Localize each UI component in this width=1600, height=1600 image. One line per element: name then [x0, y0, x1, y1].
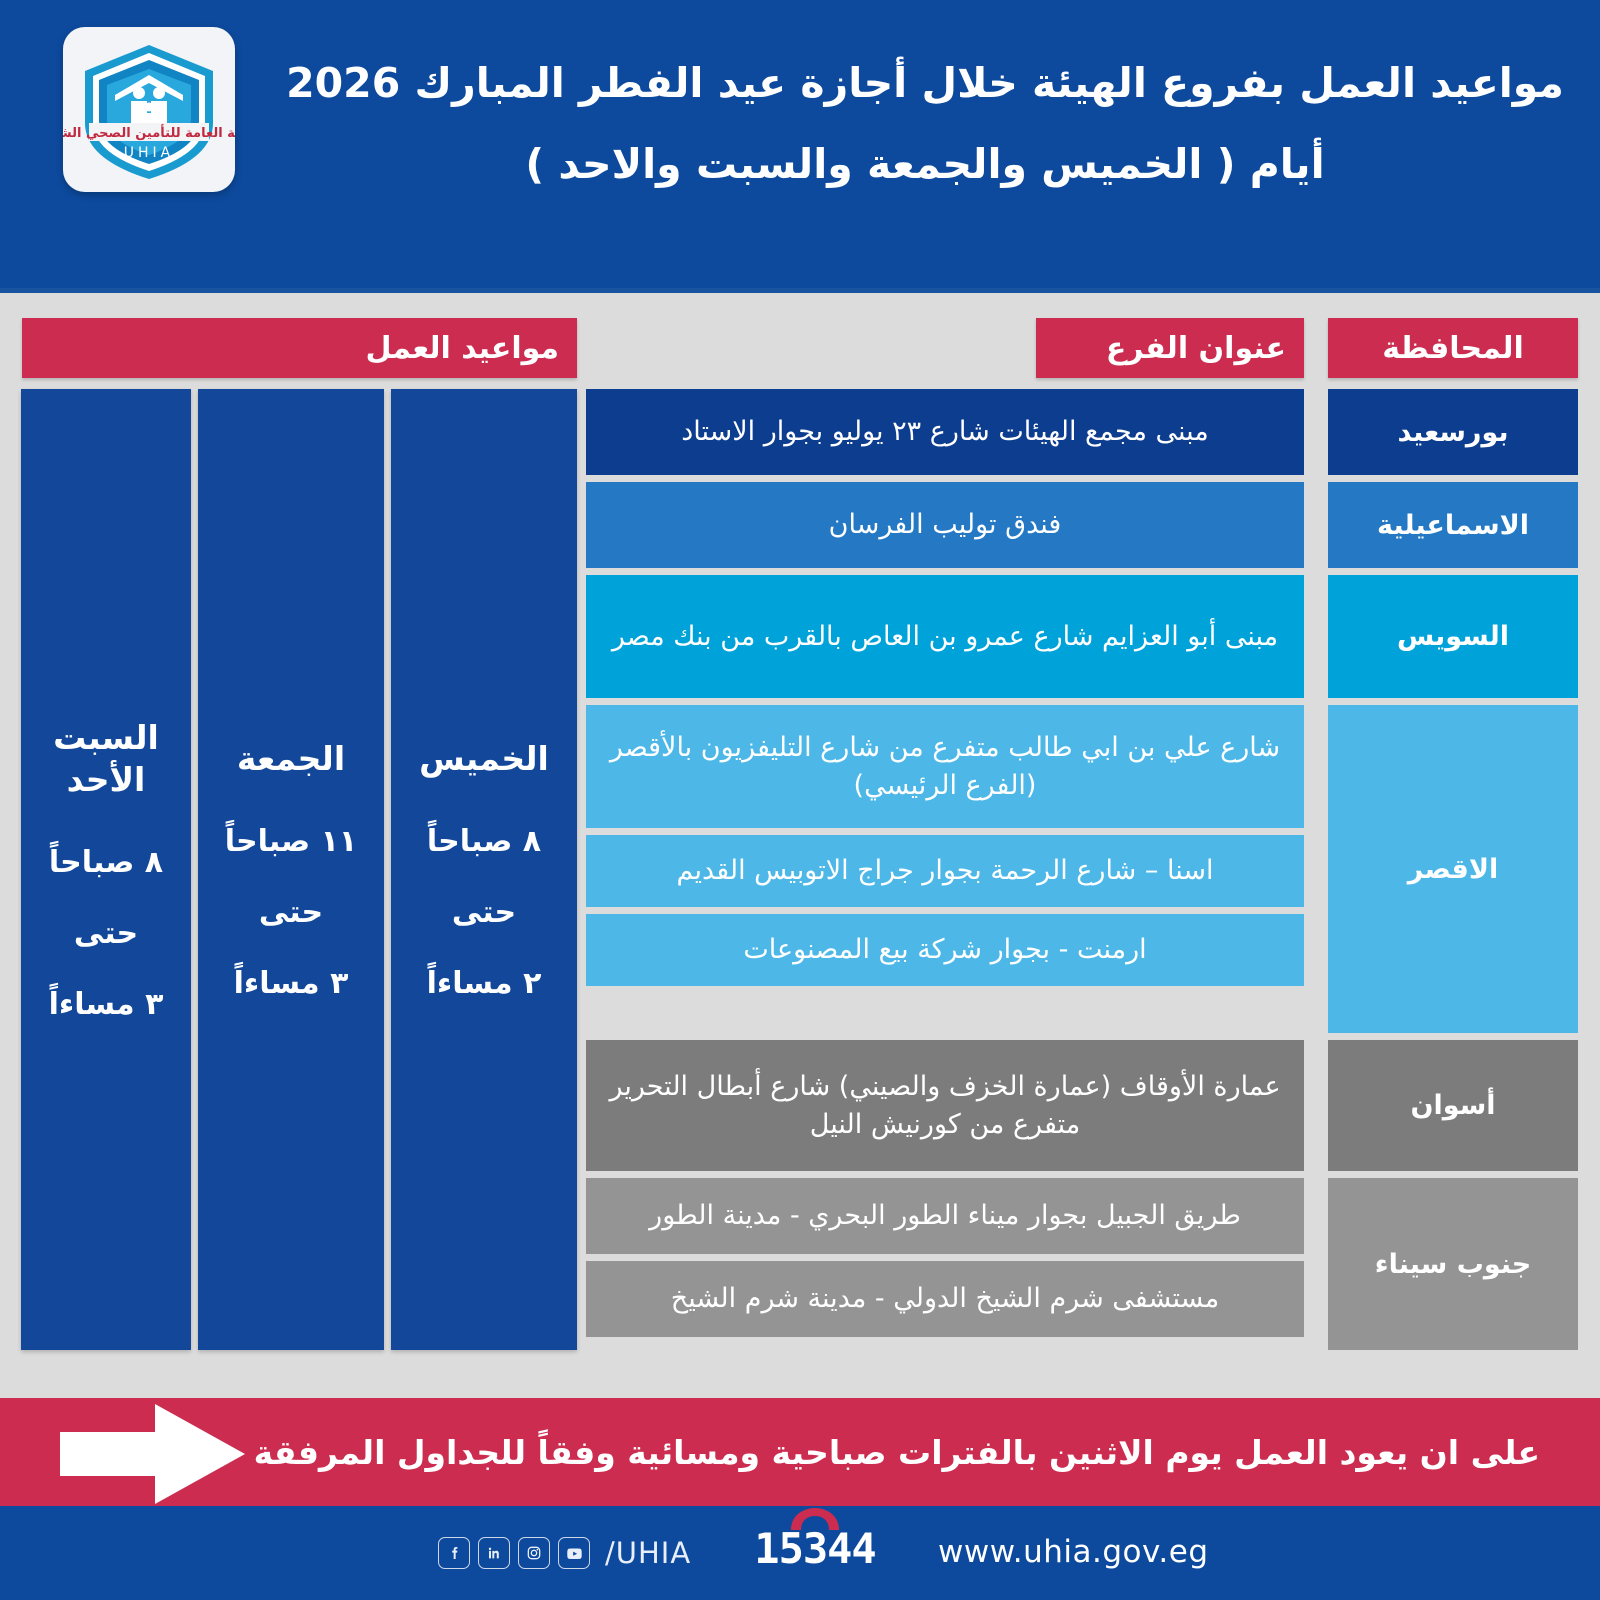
linkedin-icon[interactable] — [478, 1537, 510, 1569]
table-cell-address: طريق الجبيل بجوار ميناء الطور البحري - م… — [586, 1178, 1304, 1254]
table-cell-address: ارمنت - بجوار شركة بيع المصنوعات — [586, 914, 1304, 986]
logo-acronym-text: UHIA — [124, 145, 174, 161]
table-cell-address: فندق توليب الفرسان — [586, 482, 1304, 568]
column-header-working-hours: مواعيد العمل — [22, 318, 577, 378]
phone-handset-icon — [785, 1506, 845, 1532]
page-header: الهيئة العامة للتأمين الصحي الشامل UHIA … — [0, 0, 1600, 293]
shield-icon: الهيئة العامة للتأمين الصحي الشامل UHIA — [63, 27, 235, 192]
day-close-friday: ٣ مساءاً — [234, 966, 349, 1001]
day-open-friday: ١١ صباحاً — [225, 824, 357, 859]
social-links[interactable]: /UHIA — [438, 1536, 691, 1570]
day-until-thursday: حتى — [452, 895, 516, 930]
table-cell-address: مستشفى شرم الشيخ الدولي - مدينة شرم الشي… — [586, 1261, 1304, 1337]
table-cell-governorate: بورسعيد — [1328, 389, 1578, 475]
page-footer: /UHIA 15344 www.uhia.gov.eg — [0, 1506, 1600, 1600]
day-open-thursday: ٨ صباحاً — [427, 824, 541, 859]
uhia-logo: الهيئة العامة للتأمين الصحي الشامل UHIA — [63, 27, 235, 192]
footer-note-text: على ان يعود العمل يوم الاثنين بالفترات ص… — [250, 1398, 1540, 1506]
hotline-number: 15344 — [740, 1528, 890, 1570]
table-cell-governorate: أسوان — [1328, 1040, 1578, 1171]
day-name-saturday: السبت — [53, 717, 159, 759]
day-name-sunday: الأحد — [67, 759, 146, 801]
facebook-icon[interactable] — [438, 1537, 470, 1569]
day-open-weekend: ٨ صباحاً — [49, 845, 163, 880]
table-cell-governorate: جنوب سيناء — [1328, 1178, 1578, 1350]
column-header-branch-address: عنوان الفرع — [1036, 318, 1304, 378]
footer-note-banner: على ان يعود العمل يوم الاثنين بالفترات ص… — [0, 1398, 1600, 1506]
logo-arabic-text: الهيئة العامة للتأمين الصحي الشامل — [63, 124, 235, 141]
table-cell-address: عمارة الأوقاف (عمارة الخزف والصيني) شارع… — [586, 1040, 1304, 1171]
day-close-thursday: ٢ مساءاً — [427, 966, 542, 1001]
schedule-table: المحافظة عنوان الفرع مواعيد العمل بورسعي… — [0, 293, 1600, 1393]
page-subtitle: أيام ( الخميس والجمعة والسبت والاحد ) — [250, 139, 1600, 190]
table-cell-governorate: الاسماعيلية — [1328, 482, 1578, 568]
table-cell-address: مبنى مجمع الهيئات شارع ٢٣ يوليو بجوار ال… — [586, 389, 1304, 475]
social-handle: /UHIA — [605, 1536, 691, 1570]
table-cell-governorate: السويس — [1328, 575, 1578, 698]
youtube-icon[interactable] — [558, 1537, 590, 1569]
page-title: مواعيد العمل بفروع الهيئة خلال أجازة عيد… — [250, 58, 1600, 109]
table-cell-address: مبنى أبو العزايم شارع عمرو بن العاص بالق… — [586, 575, 1304, 698]
header-titles: مواعيد العمل بفروع الهيئة خلال أجازة عيد… — [250, 58, 1600, 191]
website-url[interactable]: www.uhia.gov.eg — [938, 1534, 1209, 1570]
day-until-friday: حتى — [259, 895, 323, 930]
day-name-thursday: الخميس — [419, 738, 549, 780]
hotline[interactable]: 15344 — [740, 1528, 890, 1570]
column-header-governorate: المحافظة — [1328, 318, 1578, 378]
table-cell-address: شارع علي بن ابي طالب متفرع من شارع التلي… — [586, 705, 1304, 828]
instagram-icon[interactable] — [518, 1537, 550, 1569]
table-cell-address: اسنا – شارع الرحمة بجوار جراج الاتوبيس ا… — [586, 835, 1304, 907]
day-until-weekend: حتى — [74, 916, 138, 951]
arrow-right-icon — [60, 1404, 245, 1504]
day-column-saturday-sunday: السبت الأحد ٨ صباحاً حتى ٣ مساءاً — [21, 389, 191, 1350]
day-column-thursday: الخميس ٨ صباحاً حتى ٢ مساءاً — [391, 389, 577, 1350]
table-cell-governorate: الاقصر — [1328, 705, 1578, 1033]
day-close-weekend: ٣ مساءاً — [49, 987, 164, 1022]
day-column-friday: الجمعة ١١ صباحاً حتى ٣ مساءاً — [198, 389, 384, 1350]
day-name-friday: الجمعة — [237, 738, 345, 780]
